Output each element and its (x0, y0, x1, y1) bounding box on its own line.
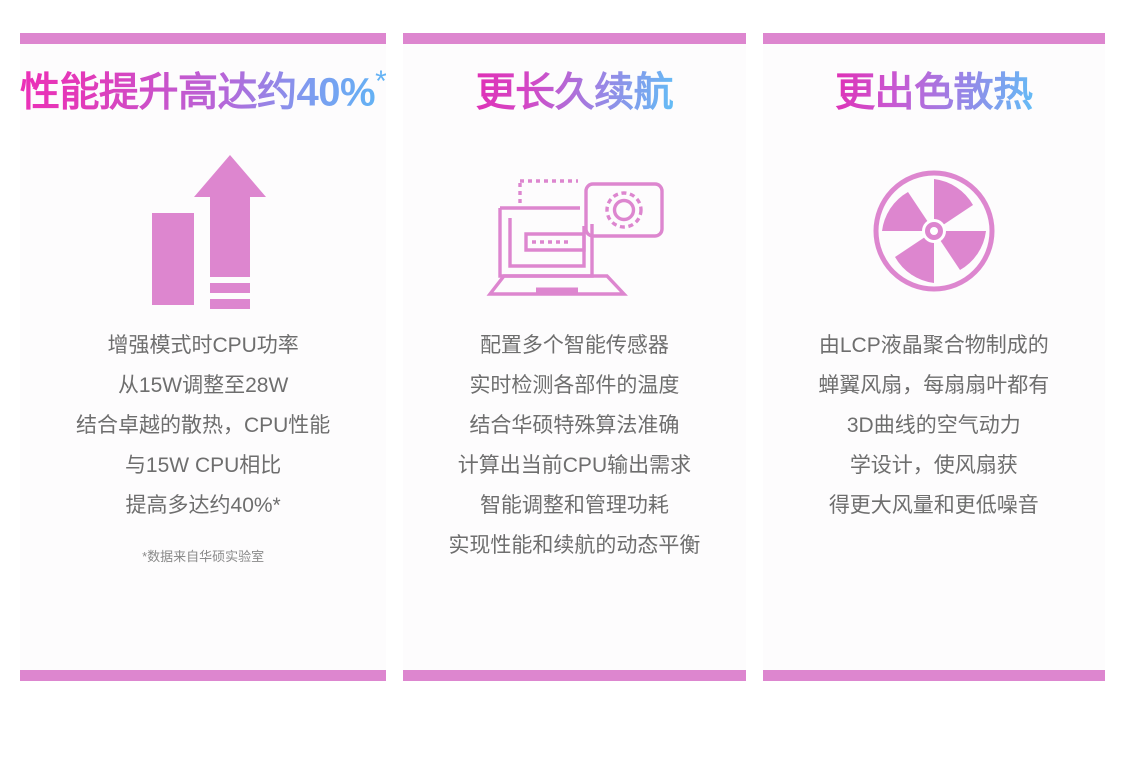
card-body: 更长久续航 (403, 44, 745, 670)
description-line: 实时检测各部件的温度 (403, 366, 745, 406)
card-bottom-bar (763, 670, 1105, 681)
description-line: 学设计，使风扇获 (763, 446, 1105, 486)
laptop-gear-sensor-icon (403, 136, 745, 326)
icon-dash-1 (210, 283, 250, 293)
card-description: 由LCP液晶聚合物制成的 蝉翼风扇，每扇扇叶都有 3D曲线的空气动力 学设计，使… (763, 326, 1105, 526)
description-line: 实现性能和续航的动态平衡 (403, 526, 745, 566)
description-line: 与15W CPU相比 (20, 446, 386, 486)
description-line: 蝉翼风扇，每扇扇叶都有 (763, 366, 1105, 406)
description-line: 智能调整和管理功耗 (403, 486, 745, 526)
description-line: 结合卓越的散热，CPU性能 (20, 406, 386, 446)
fan-hub-center (930, 227, 938, 235)
card-heading-text: 更出色散热 (835, 71, 1033, 115)
feature-card-performance: 性能提升高达约40%* 增强模式时CPU功率 从15W调整至28W 结合卓越的散… (20, 33, 386, 681)
description-line: 从15W调整至28W (20, 366, 386, 406)
feature-card-cooling: 更出色散热 (763, 33, 1105, 681)
description-line: 得更大风量和更低噪音 (763, 486, 1105, 526)
description-line: 提高多达约40%* (20, 486, 386, 526)
bar-chart-up-arrow-icon (20, 136, 386, 326)
card-top-bar (20, 33, 386, 44)
card-description: 增强模式时CPU功率 从15W调整至28W 结合卓越的散热，CPU性能 与15W… (20, 326, 386, 526)
description-line: 配置多个智能传感器 (403, 326, 745, 366)
icon-arrow-head (194, 155, 266, 197)
feature-cards-board: 性能提升高达约40%* 增强模式时CPU功率 从15W调整至28W 结合卓越的散… (0, 0, 1125, 757)
card-footnote: *数据来自华硕实验室 (142, 548, 264, 566)
card-heading-asterisk: * (375, 65, 386, 98)
card-heading: 更出色散热 (835, 67, 1033, 112)
laptop-screen-inner (510, 218, 584, 266)
description-line: 由LCP液晶聚合物制成的 (763, 326, 1105, 366)
card-heading-wrap: 更出色散热 (763, 44, 1105, 136)
description-line: 计算出当前CPU输出需求 (403, 446, 745, 486)
description-line: 增强模式时CPU功率 (20, 326, 386, 366)
cards-row: 性能提升高达约40%* 增强模式时CPU功率 从15W调整至28W 结合卓越的散… (20, 33, 1105, 681)
card-heading-text: 性能提升高达约40% (20, 71, 375, 115)
card-body: 性能提升高达约40%* 增强模式时CPU功率 从15W调整至28W 结合卓越的散… (20, 44, 386, 670)
card-bottom-bar (403, 670, 745, 681)
icon-bar-left (152, 213, 194, 305)
card-heading-wrap: 性能提升高达约40%* (20, 44, 386, 136)
bar-chart-up-arrow-icon-svg (138, 151, 268, 311)
card-heading-text: 更长久续航 (476, 71, 674, 115)
card-description: 配置多个智能传感器 实时检测各部件的温度 结合华硕特殊算法准确 计算出当前CPU… (403, 326, 745, 566)
cooling-fan-icon-svg (872, 169, 996, 293)
icon-dash-2 (210, 299, 250, 309)
card-heading: 更长久续航 (476, 67, 674, 112)
icon-arrow-shaft (210, 195, 250, 277)
cooling-fan-icon (763, 136, 1105, 326)
card-top-bar (763, 33, 1105, 44)
card-top-bar (403, 33, 745, 44)
gear-icon (607, 193, 641, 227)
description-line: 3D曲线的空气动力 (763, 406, 1105, 446)
card-bottom-bar (20, 670, 386, 681)
laptop-gear-sensor-icon-svg (474, 164, 674, 299)
card-body: 更出色散热 (763, 44, 1105, 670)
feature-card-battery: 更长久续航 (403, 33, 745, 681)
description-line: 结合华硕特殊算法准确 (403, 406, 745, 446)
card-heading: 性能提升高达约40%* (20, 67, 386, 112)
gear-teeth-ring (607, 193, 641, 227)
gear-hub (615, 200, 634, 219)
card-heading-wrap: 更长久续航 (403, 44, 745, 136)
